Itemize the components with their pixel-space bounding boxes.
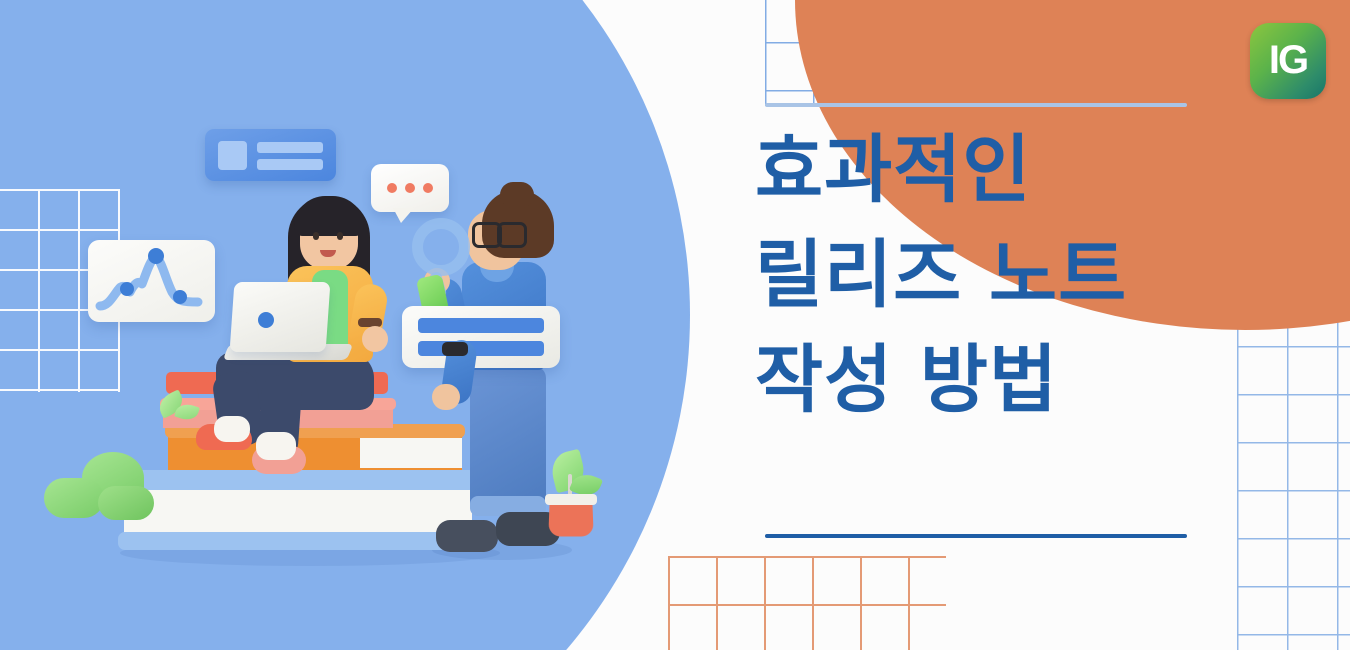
book-blue-cover-bottom <box>118 532 476 550</box>
man-shoe-left <box>436 520 498 552</box>
page-title-line-3: 작성 방법 <box>755 328 1275 433</box>
magnifier-icon <box>412 218 470 276</box>
woman-eye-right <box>337 232 343 240</box>
card-line-2 <box>257 159 323 170</box>
ig-logo[interactable]: IG <box>1250 23 1326 99</box>
man-hair-tuft <box>500 182 534 208</box>
book-blue-pages <box>124 490 472 536</box>
line-chart-icon <box>88 240 215 322</box>
bubble-dot-3 <box>423 183 433 193</box>
laptop-logo-dot <box>258 312 274 328</box>
woman-shoe-right-top <box>256 432 296 460</box>
grid-pattern-orange-bottom <box>668 556 946 650</box>
woman-eye-left <box>313 232 319 240</box>
headline-rule-top <box>765 103 1187 107</box>
ig-logo-text: IG <box>1269 40 1307 80</box>
page-title-line-1: 효과적인 <box>755 118 1275 223</box>
woman-shoe-left-top <box>214 416 250 442</box>
man-glasses-right-lens <box>497 222 527 248</box>
man-hand-lower <box>432 384 460 410</box>
page-title: 효과적인 릴리즈 노트 작성 방법 <box>755 118 1275 433</box>
page-title-line-2: 릴리즈 노트 <box>755 223 1275 328</box>
plant-pot-rim <box>545 494 597 505</box>
headline-rule-bottom <box>765 534 1187 538</box>
woman-hand <box>362 326 388 352</box>
bubble-dot-2 <box>405 183 415 193</box>
floating-blue-card <box>205 129 336 181</box>
laptop-screen <box>230 282 331 352</box>
list-card-row-2 <box>418 341 544 356</box>
line-chart-card <box>88 240 215 322</box>
speech-bubble <box>371 164 449 212</box>
bush-left-b <box>44 478 104 518</box>
plant-pot <box>548 501 593 537</box>
list-card-row-1 <box>418 318 544 333</box>
bush-left-c <box>98 486 154 520</box>
bubble-dot-1 <box>387 183 397 193</box>
card-thumbnail <box>218 141 247 170</box>
list-card <box>402 306 560 368</box>
book-blue-cover-top <box>118 470 476 492</box>
release-notes-banner: 효과적인 릴리즈 노트 작성 방법 IG <box>0 0 1350 650</box>
card-line-1 <box>257 142 323 153</box>
man-smartwatch <box>442 342 468 356</box>
man-pants <box>470 366 546 516</box>
book-orange-pages <box>360 438 462 468</box>
